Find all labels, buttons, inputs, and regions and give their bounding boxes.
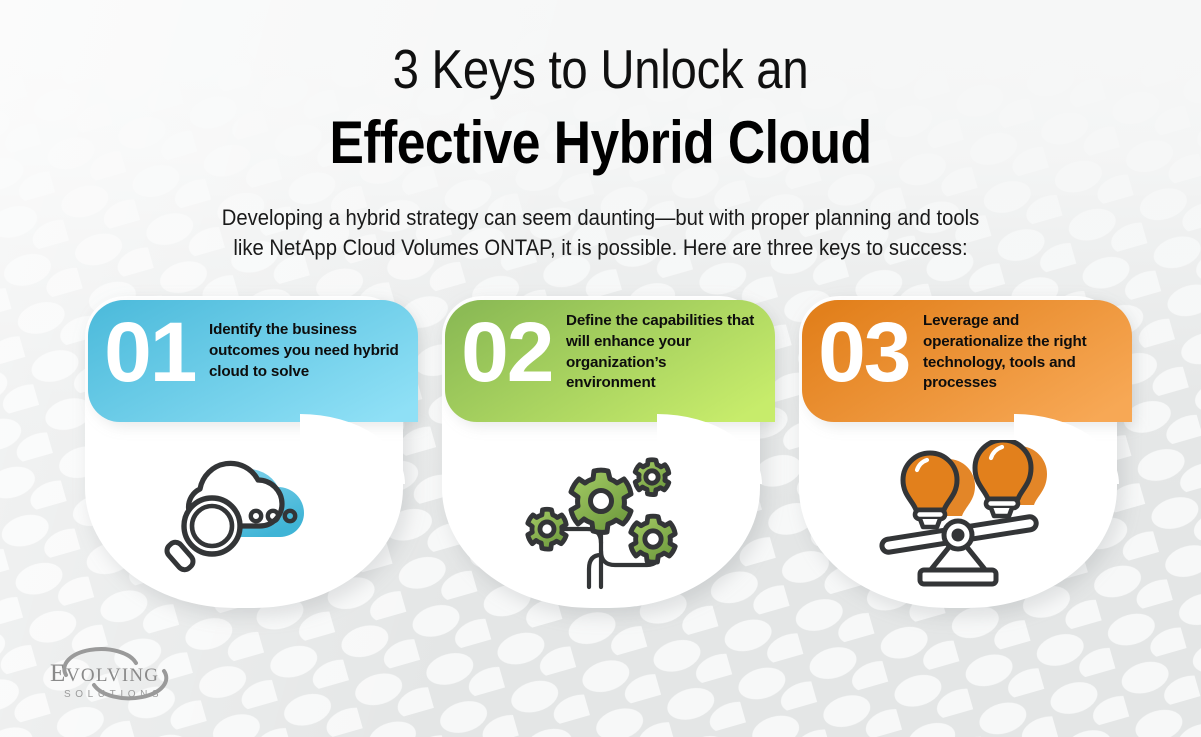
key-card-01[interactable]: 01 Identify the business outcomes you ne…: [85, 296, 415, 616]
card-heading: Leverage and operationalize the right te…: [923, 311, 1119, 394]
balance-lightbulbs-icon: [799, 430, 1117, 600]
card-number: 01: [104, 310, 195, 394]
infographic-canvas: 3 Keys to Unlock an Effective Hybrid Clo…: [0, 0, 1201, 737]
card-heading: Define the capabilities that will enhanc…: [566, 311, 756, 394]
key-card-03[interactable]: 03 Leverage and operationalize the right…: [799, 296, 1129, 616]
card-number: 03: [818, 310, 909, 394]
logo-wordmark-rest: VOLVING: [66, 665, 159, 686]
logo-tagline: SOLUTIONS: [64, 689, 163, 700]
cloud-search-icon: [85, 430, 403, 600]
gears-tree-icon: [442, 430, 760, 600]
card-number: 02: [461, 310, 552, 394]
key-cards: 01 Identify the business outcomes you ne…: [0, 0, 1201, 737]
key-card-02[interactable]: 02 Define the capabilities that will enh…: [442, 296, 772, 616]
card-heading: Identify the business outcomes you need …: [209, 320, 399, 382]
evolving-solutions-logo: E VOLVING SOLUTIONS: [36, 645, 196, 707]
logo-wordmark: E: [50, 660, 66, 687]
